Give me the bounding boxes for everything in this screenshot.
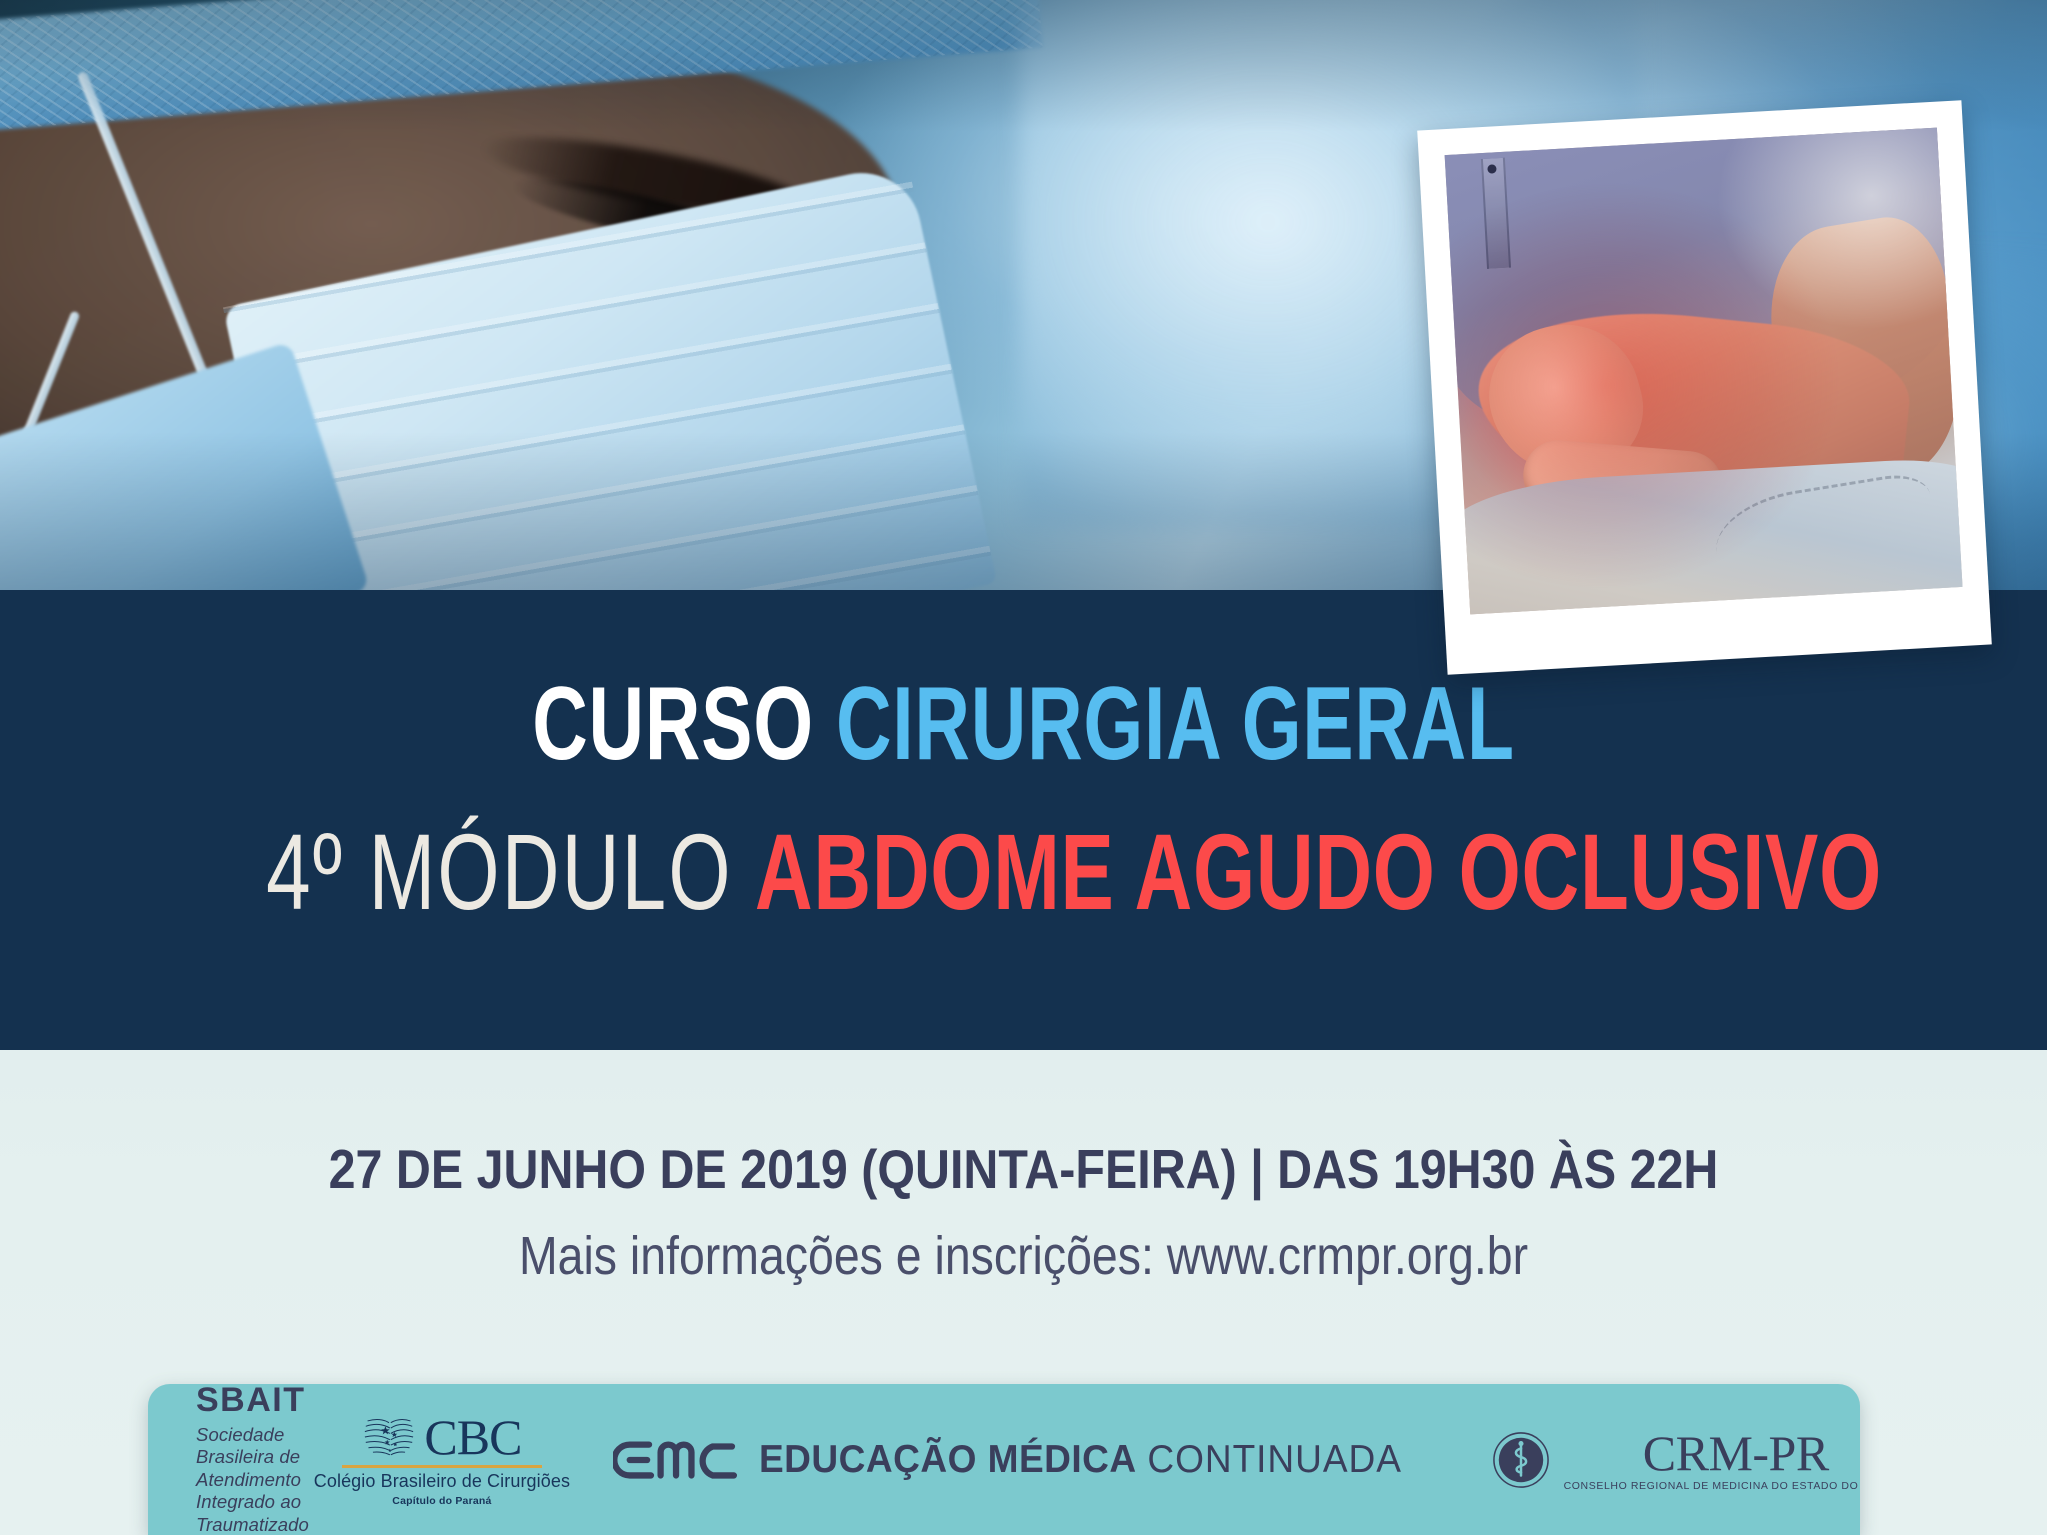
emc-label-light: CONTINUADA [1147, 1438, 1401, 1481]
title-line-2: 4º MÓDULO ABDOME AGUDO OCLUSIVO [266, 818, 1781, 926]
logo-crm-pr: CRM-PR CONSELHO REGIONAL DE MEDICINA DO … [1492, 1425, 1860, 1495]
event-date-time: 27 DE JUNHO DE 2019 (QUINTA-FEIRA) | DAS… [123, 1137, 1924, 1201]
emc-label: EDUCAÇÃO MÉDICA CONTINUADA [759, 1438, 1402, 1482]
title-line-1: CURSO CIRURGIA GERAL [266, 672, 1781, 776]
polaroid-light-glow [1445, 128, 1963, 615]
polaroid-abdominal-pain-photo [1417, 100, 1992, 675]
asclepius-rod-seal-icon [1492, 1431, 1550, 1489]
sponsor-logo-bar: SBAIT Sociedade Brasileira de Atendiment… [148, 1384, 1860, 1535]
title-curso: CURSO [532, 666, 814, 782]
cbc-subtitle: Colégio Brasileiro de Cirurgiões [314, 1471, 570, 1492]
cbc-lockup: CBC [362, 1412, 521, 1462]
emc-label-bold: EDUCAÇÃO MÉDICA [759, 1438, 1137, 1481]
more-info-registration: Mais informações e inscrições: www.crmpr… [143, 1225, 1903, 1287]
sbait-subtitle-line-1: Sociedade Brasileira de Atendimento [196, 1424, 309, 1492]
sbait-subtitle-line-2: Integrado ao Traumatizado [196, 1491, 309, 1535]
title-cirurgia-geral: CIRURGIA GERAL [836, 666, 1515, 782]
polaroid-image-area [1445, 128, 1963, 615]
poster-title-block: CURSO CIRURGIA GERAL 4º MÓDULO ABDOME AG… [0, 672, 2047, 926]
crm-subtitle: CONSELHO REGIONAL DE MEDICINA DO ESTADO … [1564, 1480, 1860, 1492]
globe-stars-icon [362, 1412, 416, 1462]
title-modulo: 4º MÓDULO [266, 811, 733, 932]
crm-acronym: CRM-PR [1643, 1428, 1829, 1478]
sbait-acronym: SBAIT [196, 1384, 309, 1417]
course-announcement-poster: CURSO CIRURGIA GERAL 4º MÓDULO ABDOME AG… [0, 0, 2047, 1535]
crm-lockup: CRM-PR CONSELHO REGIONAL DE MEDICINA DO … [1564, 1428, 1860, 1492]
cbc-gold-rule [342, 1465, 542, 1468]
logo-cbc: CBC Colégio Brasileiro de Cirurgiões Cap… [331, 1412, 553, 1507]
sbait-subtitle: Sociedade Brasileira de Atendimento Inte… [196, 1424, 309, 1535]
emc-monogram-icon [613, 1433, 741, 1487]
cbc-chapter: Capítulo do Paraná [392, 1495, 491, 1507]
title-abdome-agudo-oclusivo: ABDOME AGUDO OCLUSIVO [755, 811, 1882, 932]
logo-emc: EDUCAÇÃO MÉDICA CONTINUADA [613, 1433, 1436, 1487]
logo-sbait: SBAIT Sociedade Brasileira de Atendiment… [196, 1384, 309, 1535]
cbc-acronym: CBC [424, 1412, 521, 1462]
